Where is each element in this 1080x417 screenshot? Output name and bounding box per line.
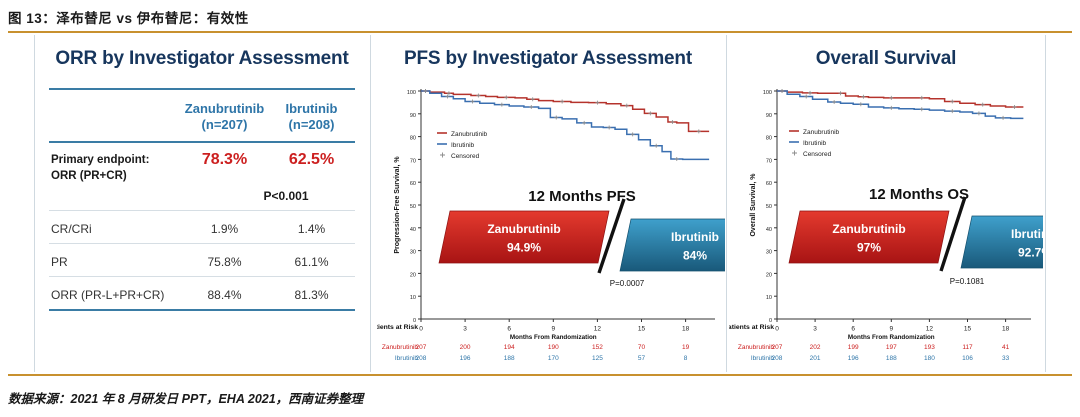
orr-primary-zanubrutinib: 78.3% [181, 148, 268, 189]
svg-text:15: 15 [964, 326, 972, 333]
svg-text:84%: 84% [683, 249, 707, 263]
panel-pfs: PFS by Investigator Assessment 010203040… [371, 33, 725, 374]
svg-text:9: 9 [889, 326, 893, 333]
figure-source-note: 数据来源：2021 年 8 月研发日 PPT，EHA 2021，西南证券整理 [8, 388, 363, 407]
frame-divider-right [1045, 35, 1046, 372]
orr-row-1-ibrutinib: 61.1% [268, 248, 355, 277]
svg-text:207: 207 [416, 344, 427, 351]
svg-text:12 Months PFS: 12 Months PFS [528, 188, 636, 205]
orr-header-ibrutinib-name: Ibrutinib [268, 101, 355, 117]
svg-text:Ibrutinib: Ibrutinib [671, 230, 719, 244]
orr-row-0-ibrutinib: 1.4% [268, 215, 355, 244]
svg-text:201: 201 [810, 355, 821, 362]
svg-text:196: 196 [848, 355, 859, 362]
svg-text:117: 117 [962, 344, 973, 351]
svg-text:97%: 97% [857, 241, 881, 255]
svg-text:Zanubrutinib: Zanubrutinib [451, 131, 488, 138]
svg-text:12: 12 [926, 326, 934, 333]
svg-text:20: 20 [766, 272, 772, 278]
svg-text:30: 30 [766, 250, 772, 256]
orr-header-ibrutinib-n: (n=208) [268, 117, 355, 133]
svg-text:3: 3 [813, 326, 817, 333]
orr-row-2-ibrutinib: 81.3% [268, 281, 355, 310]
svg-text:15: 15 [638, 326, 646, 333]
svg-text:202: 202 [810, 344, 821, 351]
svg-text:188: 188 [886, 355, 897, 362]
svg-text:12 Months OS: 12 Months OS [869, 186, 969, 203]
panel-orr: ORR by Investigator Assessment Zanubruti… [35, 33, 369, 374]
orr-row-0-zanubrutinib: 1.9% [181, 215, 268, 244]
svg-text:207: 207 [772, 344, 783, 351]
orr-row-0-label: CR/CRi [49, 215, 181, 244]
svg-text:Months From Randomization: Months From Randomization [848, 334, 935, 341]
svg-text:193: 193 [924, 344, 935, 351]
svg-text:P=0.0007: P=0.0007 [610, 279, 645, 288]
svg-text:Months From Randomization: Months From Randomization [510, 334, 597, 341]
orr-header-zanubrutinib: Zanubrutinib (n=207) [181, 95, 268, 142]
svg-text:100: 100 [407, 90, 416, 96]
svg-text:10: 10 [410, 295, 416, 301]
svg-text:Zanubrutinib: Zanubrutinib [382, 344, 419, 351]
svg-text:Patients at Risk: Patients at Risk [377, 324, 418, 331]
table-row: ORR (PR-L+PR+CR) 88.4% 81.3% [49, 281, 355, 310]
orr-header-zanubrutinib-n: (n=207) [181, 117, 268, 133]
orr-table: Zanubrutinib (n=207) Ibrutinib (n=208) P… [49, 88, 355, 316]
orr-pvalue-row: P<0.001 [49, 189, 355, 211]
svg-text:10: 10 [766, 295, 772, 301]
svg-text:20: 20 [410, 272, 416, 278]
orr-primary-label: Primary endpoint: ORR (PR+CR) [49, 148, 181, 189]
pfs-km-chart: 01020304050607080901000369121518Progress… [377, 81, 725, 377]
orr-header-zanubrutinib-name: Zanubrutinib [181, 101, 268, 117]
svg-text:Zanubrutinib: Zanubrutinib [803, 129, 840, 136]
svg-text:Censored: Censored [803, 151, 832, 158]
orr-row-1-zanubrutinib: 75.8% [181, 248, 268, 277]
svg-text:18: 18 [1002, 326, 1010, 333]
svg-text:208: 208 [772, 355, 783, 362]
svg-text:80: 80 [410, 136, 416, 142]
svg-text:Zanubrutinib: Zanubrutinib [487, 222, 560, 236]
svg-text:70: 70 [638, 344, 646, 351]
orr-primary-label-line2: ORR (PR+CR) [51, 168, 181, 185]
svg-text:Ibrutinib: Ibrutinib [803, 140, 827, 147]
orr-pvalue-spacer [49, 189, 181, 211]
orr-pvalue: P<0.001 [181, 189, 355, 211]
svg-text:70: 70 [410, 158, 416, 164]
svg-text:19: 19 [682, 344, 690, 351]
orr-primary-ibrutinib: 62.5% [268, 148, 355, 189]
svg-text:9: 9 [551, 326, 555, 333]
svg-text:196: 196 [460, 355, 471, 362]
orr-row-2-label: ORR (PR-L+PR+CR) [49, 281, 181, 310]
svg-text:Ibrutinib: Ibrutinib [451, 142, 475, 149]
orr-panel-title: ORR by Investigator Assessment [35, 48, 369, 70]
orr-header-blank [49, 95, 181, 142]
table-row: PR 75.8% 61.1% [49, 248, 355, 277]
svg-text:60: 60 [410, 181, 416, 187]
svg-text:188: 188 [504, 355, 515, 362]
orr-header-row: Zanubrutinib (n=207) Ibrutinib (n=208) [49, 95, 355, 142]
panel-os: Overall Survival 01020304050607080901000… [727, 33, 1045, 374]
svg-text:90: 90 [766, 113, 772, 119]
svg-text:40: 40 [766, 227, 772, 233]
svg-text:0: 0 [775, 326, 779, 333]
svg-text:57: 57 [638, 355, 646, 362]
svg-text:170: 170 [548, 355, 559, 362]
os-panel-title: Overall Survival [727, 48, 1045, 70]
svg-text:50: 50 [410, 204, 416, 210]
svg-text:70: 70 [766, 158, 772, 164]
svg-text:80: 80 [766, 136, 772, 142]
svg-text:200: 200 [460, 344, 471, 351]
svg-text:Censored: Censored [451, 153, 480, 160]
svg-text:90: 90 [410, 113, 416, 119]
svg-text:33: 33 [1002, 355, 1010, 362]
os-km-chart: 01020304050607080901000369121518Overall … [729, 81, 1043, 377]
svg-text:180: 180 [924, 355, 935, 362]
svg-text:Ibrutinib: Ibrutinib [1011, 227, 1043, 241]
figure-frame: ORR by Investigator Assessment Zanubruti… [8, 31, 1072, 376]
orr-header-ibrutinib: Ibrutinib (n=208) [268, 95, 355, 142]
orr-row-2-zanubrutinib: 88.4% [181, 281, 268, 310]
svg-text:Patients at Risk: Patients at Risk [729, 324, 774, 331]
svg-text:152: 152 [592, 344, 603, 351]
svg-text:197: 197 [886, 344, 897, 351]
svg-text:Zanubrutinib: Zanubrutinib [738, 344, 775, 351]
svg-text:Progression-Free Survival, %: Progression-Free Survival, % [394, 156, 401, 254]
orr-primary-row: Primary endpoint: ORR (PR+CR) 78.3% 62.5… [49, 148, 355, 189]
svg-text:100: 100 [763, 90, 772, 96]
svg-text:6: 6 [851, 326, 855, 333]
svg-text:106: 106 [962, 355, 973, 362]
svg-text:18: 18 [682, 326, 690, 333]
svg-text:199: 199 [848, 344, 859, 351]
pfs-panel-title: PFS by Investigator Assessment [371, 48, 725, 70]
figure-caption: 图 13：泽布替尼 vs 伊布替尼：有效性 [8, 7, 249, 27]
table-row: CR/CRi 1.9% 1.4% [49, 215, 355, 244]
svg-text:Zanubrutinib: Zanubrutinib [832, 222, 905, 236]
svg-text:208: 208 [416, 355, 427, 362]
svg-text:3: 3 [463, 326, 467, 333]
svg-text:P=0.1081: P=0.1081 [950, 277, 985, 286]
svg-text:12: 12 [594, 326, 602, 333]
svg-text:190: 190 [548, 344, 559, 351]
orr-rule-bottom [49, 310, 355, 316]
svg-text:92.7%: 92.7% [1018, 246, 1043, 260]
svg-text:50: 50 [766, 204, 772, 210]
orr-row-1-label: PR [49, 248, 181, 277]
svg-text:40: 40 [410, 227, 416, 233]
figure-page: 图 13：泽布替尼 vs 伊布替尼：有效性 ORR by Investigato… [0, 0, 1080, 417]
svg-text:0: 0 [419, 326, 423, 333]
svg-text:6: 6 [507, 326, 511, 333]
svg-text:Overall Survival, %: Overall Survival, % [750, 173, 757, 237]
svg-text:194: 194 [504, 344, 515, 351]
svg-text:94.9%: 94.9% [507, 241, 541, 255]
svg-text:60: 60 [766, 181, 772, 187]
svg-text:8: 8 [684, 355, 688, 362]
svg-text:30: 30 [410, 250, 416, 256]
orr-primary-label-line1: Primary endpoint: [51, 152, 181, 169]
svg-text:125: 125 [592, 355, 603, 362]
svg-text:41: 41 [1002, 344, 1010, 351]
